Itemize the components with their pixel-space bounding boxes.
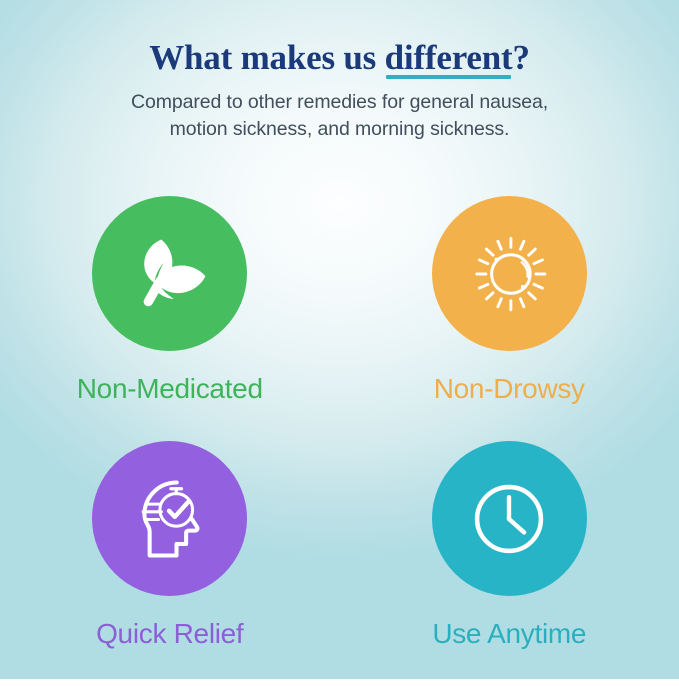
page-subtitle-line-2: motion sickness, and morning sickness. <box>0 116 679 143</box>
feature-circle-non-medicated <box>92 196 247 351</box>
page-title-emphasis: different <box>385 38 513 78</box>
page-title-prefix: What makes us <box>149 38 384 77</box>
sun-icon <box>462 227 556 321</box>
feature-item-quick-relief: Quick Relief <box>92 441 247 686</box>
feature-circle-quick-relief <box>92 441 247 596</box>
feature-grid: Non-Medicated <box>0 196 679 686</box>
feature-label-non-drowsy: Non-Drowsy <box>434 373 585 405</box>
feature-item-use-anytime: Use Anytime <box>432 441 587 686</box>
feature-item-non-drowsy: Non-Drowsy <box>432 196 587 441</box>
infographic-panel: What makes us different? Compared to oth… <box>0 0 679 679</box>
feature-label-use-anytime: Use Anytime <box>432 618 586 650</box>
page-title: What makes us different? <box>0 0 679 78</box>
feature-label-non-medicated: Non-Medicated <box>77 373 263 405</box>
feature-circle-use-anytime <box>432 441 587 596</box>
feature-item-non-medicated: Non-Medicated <box>77 196 263 441</box>
header: What makes us different? Compared to oth… <box>0 0 679 143</box>
clock-icon <box>467 477 551 561</box>
head-stopwatch-icon <box>122 471 218 567</box>
page-subtitle: Compared to other remedies for general n… <box>0 78 679 143</box>
feature-circle-non-drowsy <box>432 196 587 351</box>
feature-label-quick-relief: Quick Relief <box>96 618 243 650</box>
page-title-suffix: ? <box>512 38 529 77</box>
page-subtitle-line-1: Compared to other remedies for general n… <box>0 89 679 116</box>
leaf-icon <box>124 228 216 320</box>
